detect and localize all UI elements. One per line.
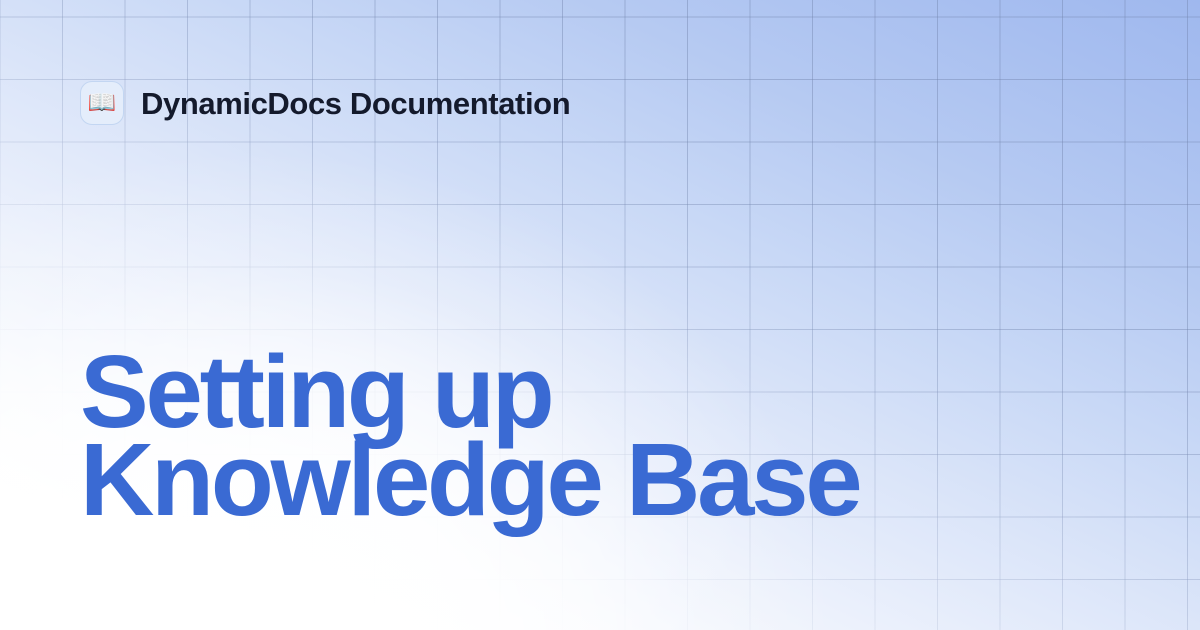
brand-title: DynamicDocs Documentation [141, 88, 570, 119]
page-title: Setting up Knowledge Base [80, 348, 1090, 524]
open-book-icon: 📖 [80, 81, 124, 125]
open-book-glyph: 📖 [88, 92, 117, 115]
card-content: 📖 DynamicDocs Documentation Setting up K… [0, 0, 1200, 630]
og-card: 📖 DynamicDocs Documentation Setting up K… [0, 0, 1200, 630]
brand-row: 📖 DynamicDocs Documentation [80, 81, 570, 125]
